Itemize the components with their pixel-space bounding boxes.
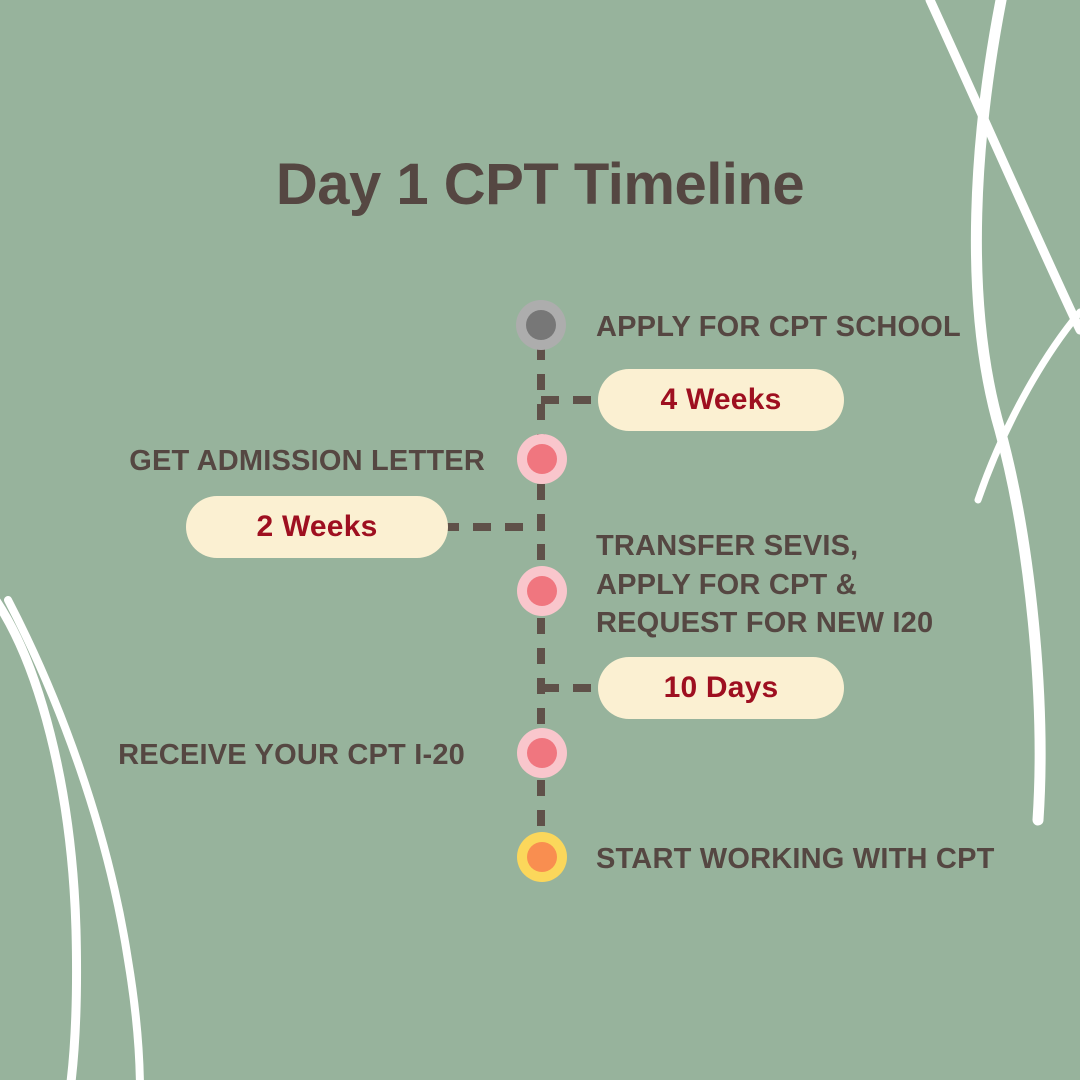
timeline-node-transfer-sevis[interactable] [517,566,567,616]
timeline-label-apply-for-cpt-school: APPLY FOR CPT SCHOOL [596,308,1026,347]
timeline-poster: Day 1 CPT Timeline APPLY FOR CPT SCHOOL … [0,0,1080,1080]
duration-badge-2-weeks: 2 Weeks [186,496,448,558]
connector-segment-1 [537,344,545,436]
timeline: APPLY FOR CPT SCHOOL 4 Weeks GET ADMISSI… [0,0,1080,1080]
duration-badge-4-weeks: 4 Weeks [598,369,844,431]
timeline-label-get-admission-letter: GET ADMISSION LETTER [60,442,485,481]
timeline-label-start-working-with-cpt: START WORKING WITH CPT [596,840,1046,879]
node-core-icon [527,444,557,474]
node-core-icon [527,738,557,768]
timeline-node-receive-cpt-i20[interactable] [517,728,567,778]
connector-segment-3 [537,618,545,730]
timeline-node-get-admission-letter[interactable] [517,434,567,484]
connector-branch-2-weeks [441,523,545,531]
node-core-icon [527,842,557,872]
timeline-label-transfer-sevis: TRANSFER SEVIS, APPLY FOR CPT & REQUEST … [596,527,1036,643]
timeline-node-start-working-with-cpt[interactable] [517,832,567,882]
connector-segment-4 [537,780,545,836]
node-core-icon [527,576,557,606]
timeline-node-apply-for-cpt-school[interactable] [516,300,566,350]
duration-badge-10-days: 10 Days [598,657,844,719]
timeline-label-receive-cpt-i20: RECEIVE YOUR CPT I-20 [60,736,465,775]
node-core-icon [526,310,556,340]
